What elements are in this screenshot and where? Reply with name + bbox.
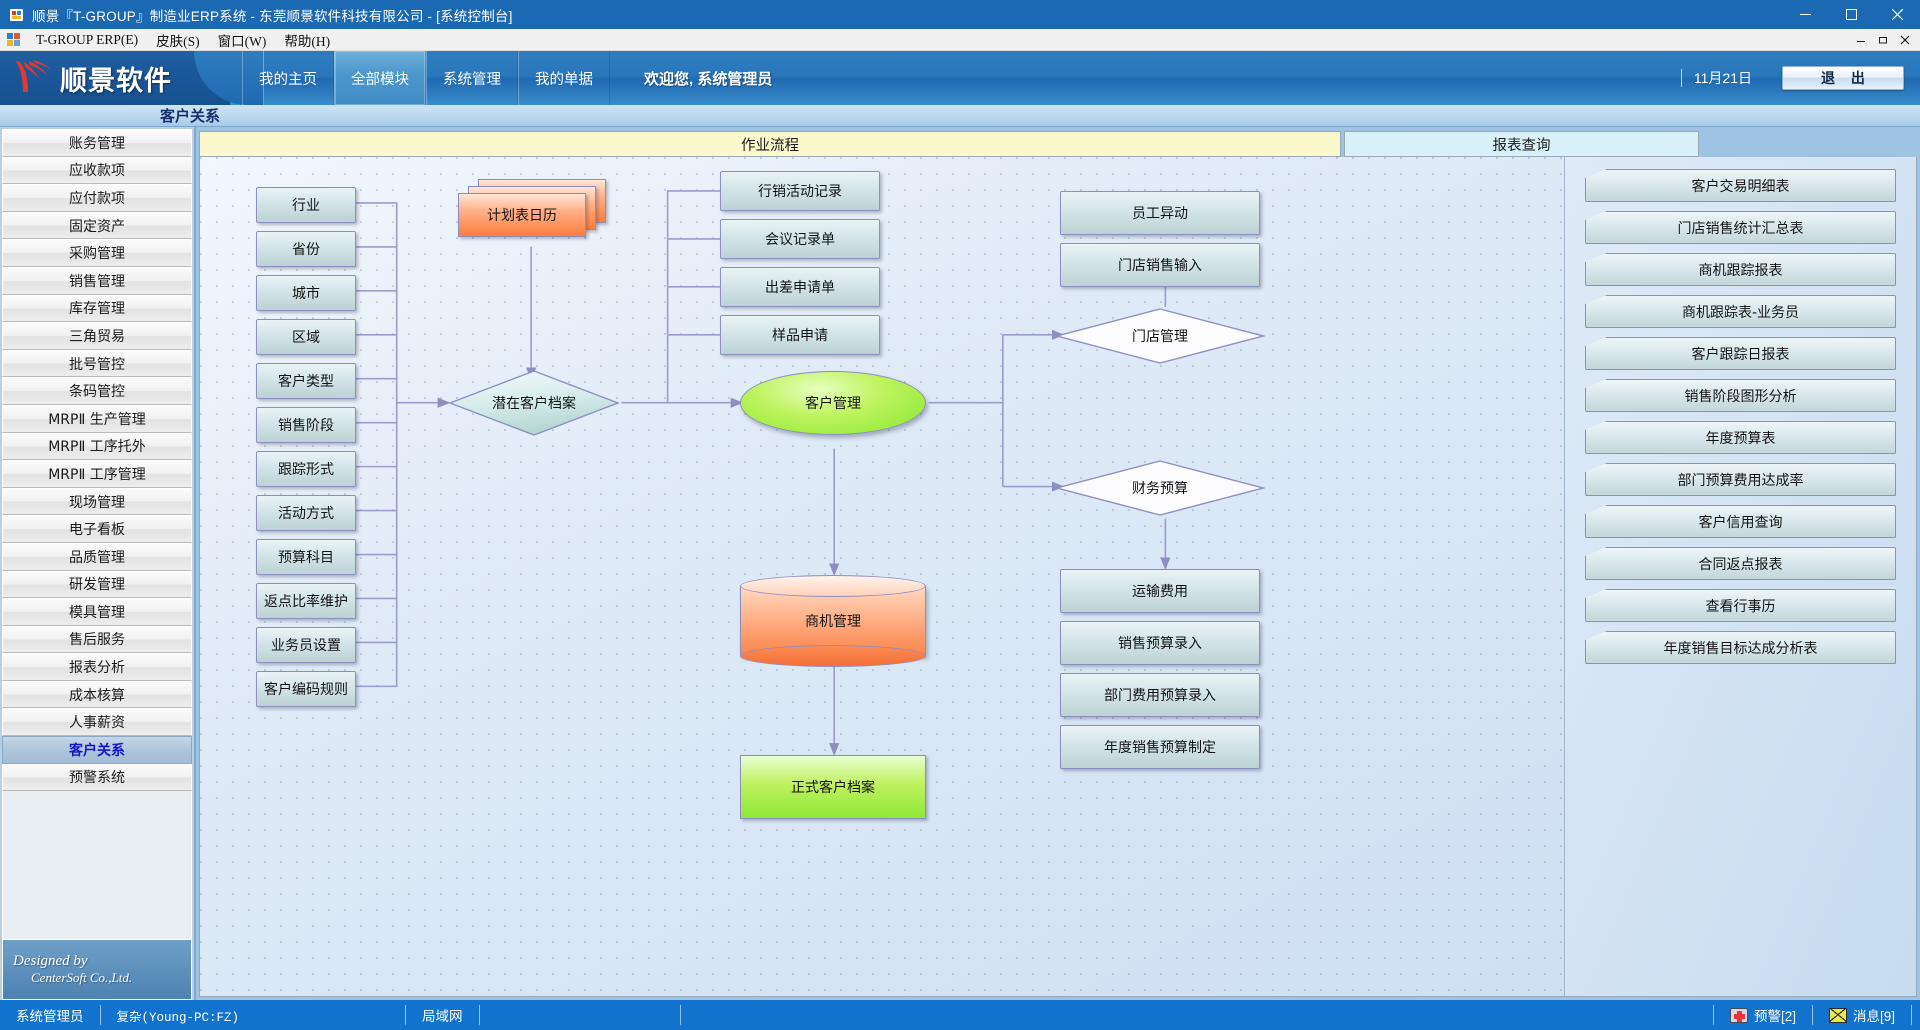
window-close-button[interactable] — [1874, 0, 1920, 29]
module-title-bar: 客户关系 — [0, 105, 1920, 127]
workflow-canvas: 行业 省份 城市 区域 客户类型 销售阶段 跟踪形式 活动方式 预算科目 返点比… — [199, 157, 1917, 997]
sidebar-item-report-analysis[interactable]: 报表分析 — [2, 653, 192, 681]
flow-node-tracking-type[interactable]: 跟踪形式 — [256, 451, 356, 487]
report-button-customer-transaction-detail[interactable]: 客户交易明细表 — [1585, 169, 1896, 202]
flow-node-customer-management[interactable]: 客户管理 — [740, 371, 926, 435]
page-title: 客户关系 — [160, 105, 220, 126]
mdi-restore-button[interactable] — [1872, 30, 1894, 50]
flow-node-sales-budget-entry[interactable]: 销售预算录入 — [1060, 621, 1260, 665]
sidebar-item-mrp2-outsourcing[interactable]: MRPⅡ 工序托外 — [2, 433, 192, 461]
credit-company: CenterSoft Co.,Ltd. — [31, 970, 191, 986]
logout-button[interactable]: 退 出 — [1782, 66, 1904, 90]
header-divider — [1681, 69, 1682, 87]
sidebar-item-rnd[interactable]: 研发管理 — [2, 571, 192, 599]
flow-node-dept-expense-budget[interactable]: 部门费用预算录入 — [1060, 673, 1260, 717]
status-bar: 系统管理员 复杂(Young-PC:FZ) 局域网 预警[2] 消息[9] — [0, 1000, 1920, 1030]
flow-node-finance-budget-label: 财务预算 — [1055, 459, 1265, 517]
flow-node-customer-coding[interactable]: 客户编码规则 — [256, 671, 356, 707]
sidebar-item-mrp2-process[interactable]: MRPⅡ 工序管理 — [2, 460, 192, 488]
application-body: 账务管理 应收款项 应付款项 固定资产 采购管理 销售管理 库存管理 三角贸易 … — [0, 127, 1920, 1000]
sidebar-item-purchasing[interactable]: 采购管理 — [2, 239, 192, 267]
mdi-close-button[interactable] — [1894, 30, 1916, 50]
application-header: 顺景软件 我的主页 全部模块 系统管理 我的单据 欢迎您, 系统管理员 11月2… — [0, 51, 1920, 105]
sidebar-item-kanban[interactable]: 电子看板 — [2, 515, 192, 543]
sidebar-item-batch-control[interactable]: 批号管控 — [2, 350, 192, 378]
report-button-customer-daily-tracking[interactable]: 客户跟踪日报表 — [1585, 337, 1896, 370]
alert-icon — [1730, 1008, 1748, 1023]
report-button-view-calendar[interactable]: 查看行事历 — [1585, 589, 1896, 622]
flow-node-marketing-activity[interactable]: 行销活动记录 — [720, 171, 880, 211]
flow-node-customer-type[interactable]: 客户类型 — [256, 363, 356, 399]
flow-node-store-sales-input[interactable]: 门店销售输入 — [1060, 243, 1260, 287]
status-network: 局域网 — [406, 1000, 479, 1030]
window-maximize-button[interactable] — [1828, 0, 1874, 29]
tab-workflow[interactable]: 作业流程 — [199, 131, 1341, 157]
status-server: 复杂(Young-PC:FZ) — [101, 1000, 256, 1030]
header-date: 11月21日 — [1694, 68, 1752, 88]
sidebar-credit: Designed by CenterSoft Co.,Ltd. — [2, 940, 192, 1000]
report-button-dept-budget-achievement[interactable]: 部门预算费用达成率 — [1585, 463, 1896, 496]
status-user: 系统管理员 — [0, 1000, 100, 1030]
workflow-area: 作业流程 报表查询 — [196, 127, 1920, 1000]
status-alert-button[interactable]: 预警[2] — [1714, 1000, 1812, 1030]
flow-node-transport-fee[interactable]: 运输费用 — [1060, 569, 1260, 613]
nav-tab-my-documents[interactable]: 我的单据 — [518, 51, 610, 105]
nav-tab-home[interactable]: 我的主页 — [242, 51, 334, 105]
flow-node-region[interactable]: 区域 — [256, 319, 356, 355]
brand-name: 顺景软件 — [60, 59, 172, 98]
module-sidebar: 账务管理 应收款项 应付款项 固定资产 采购管理 销售管理 库存管理 三角贸易 … — [0, 127, 196, 1000]
flow-node-rebate-rate[interactable]: 返点比率维护 — [256, 583, 356, 619]
flow-node-staff-change[interactable]: 员工异动 — [1060, 191, 1260, 235]
flow-node-plan-calendar[interactable]: 计划表日历 — [458, 193, 586, 237]
flow-node-finance-budget[interactable]: 财务预算 — [1055, 459, 1265, 517]
sidebar-item-crm[interactable]: 客户关系 — [2, 736, 192, 764]
report-button-opportunity-by-salesperson[interactable]: 商机跟踪表-业务员 — [1585, 295, 1896, 328]
flow-node-store-management[interactable]: 门店管理 — [1055, 307, 1265, 365]
flow-node-city[interactable]: 城市 — [256, 275, 356, 311]
main-nav-tabs: 我的主页 全部模块 系统管理 我的单据 — [242, 51, 610, 105]
flow-node-potential-customer-label: 潜在客户档案 — [448, 369, 620, 437]
erp-application-window: 顺景『T-GROUP』制造业ERP系统 - 东莞顺景软件科技有限公司 - [系统… — [0, 0, 1920, 1030]
menu-item-skin[interactable]: 皮肤(S) — [147, 28, 209, 52]
status-alert-label: 预警[2] — [1754, 1005, 1796, 1025]
flow-node-province[interactable]: 省份 — [256, 231, 356, 267]
credit-designed-by: Designed by — [13, 953, 191, 970]
sidebar-item-mrp2-production[interactable]: MRPⅡ 生产管理 — [2, 405, 192, 433]
flow-node-opportunity-management-label: 商机管理 — [740, 575, 926, 667]
sidebar-item-mold[interactable]: 模具管理 — [2, 598, 192, 626]
sidebar-item-hr-payroll[interactable]: 人事薪资 — [2, 708, 192, 736]
brand-area: 顺景软件 — [0, 51, 230, 105]
sidebar-item-sales[interactable]: 销售管理 — [2, 267, 192, 295]
flow-node-industry[interactable]: 行业 — [256, 187, 356, 223]
flow-node-annual-sales-budget[interactable]: 年度销售预算制定 — [1060, 725, 1260, 769]
sidebar-filler — [2, 791, 192, 940]
sidebar-item-triangular-trade[interactable]: 三角贸易 — [2, 322, 192, 350]
application-menubar: T-GROUP ERP(E) 皮肤(S) 窗口(W) 帮助(H) — [0, 29, 1920, 51]
sidebar-item-accounting[interactable]: 账务管理 — [2, 129, 192, 157]
sidebar-item-after-sales[interactable]: 售后服务 — [2, 626, 192, 654]
flow-node-sample-request[interactable]: 样品申请 — [720, 315, 880, 355]
sidebar-item-shopfloor[interactable]: 现场管理 — [2, 488, 192, 516]
flow-node-formal-customer[interactable]: 正式客户档案 — [740, 755, 926, 819]
welcome-message: 欢迎您, 系统管理员 — [644, 51, 772, 105]
sidebar-item-receivables[interactable]: 应收款项 — [2, 157, 192, 185]
status-message-label: 消息[9] — [1853, 1005, 1895, 1025]
flow-node-potential-customer[interactable]: 潜在客户档案 — [448, 369, 620, 437]
tab-report-query[interactable]: 报表查询 — [1344, 131, 1699, 157]
menu-app-icon — [7, 33, 21, 47]
sidebar-item-barcode-control[interactable]: 条码管控 — [2, 377, 192, 405]
sidebar-item-cost-accounting[interactable]: 成本核算 — [2, 681, 192, 709]
report-button-customer-credit-query[interactable]: 客户信用查询 — [1585, 505, 1896, 538]
report-button-sales-stage-chart[interactable]: 销售阶段图形分析 — [1585, 379, 1896, 412]
sidebar-item-alert-system[interactable]: 预警系统 — [2, 764, 192, 792]
window-titlebar: 顺景『T-GROUP』制造业ERP系统 - 东莞顺景软件科技有限公司 - [系统… — [0, 0, 1920, 29]
report-query-panel: 客户交易明细表 门店销售统计汇总表 商机跟踪报表 商机跟踪表-业务员 客户跟踪日… — [1564, 157, 1916, 996]
report-button-opportunity-tracking[interactable]: 商机跟踪报表 — [1585, 253, 1896, 286]
nav-tab-all-modules[interactable]: 全部模块 — [334, 51, 426, 105]
mail-icon — [1829, 1008, 1847, 1023]
company-logo-icon — [10, 58, 54, 98]
sidebar-item-inventory[interactable]: 库存管理 — [2, 295, 192, 323]
flow-node-budget-subject[interactable]: 预算科目 — [256, 539, 356, 575]
workflow-tabs: 作业流程 报表查询 — [199, 131, 1917, 157]
flow-node-sales-stage[interactable]: 销售阶段 — [256, 407, 356, 443]
flow-node-meeting-record[interactable]: 会议记录单 — [720, 219, 880, 259]
flow-node-travel-request[interactable]: 出差申请单 — [720, 267, 880, 307]
menu-item-help[interactable]: 帮助(H) — [275, 28, 339, 52]
nav-tab-system-management[interactable]: 系统管理 — [426, 51, 518, 105]
flow-node-store-management-label: 门店管理 — [1055, 307, 1265, 365]
window-title: 顺景『T-GROUP』制造业ERP系统 - 东莞顺景软件科技有限公司 - [系统… — [32, 5, 513, 25]
flow-node-activity-type[interactable]: 活动方式 — [256, 495, 356, 531]
flow-node-opportunity-management[interactable]: 商机管理 — [740, 575, 926, 667]
sidebar-item-payables[interactable]: 应付款项 — [2, 184, 192, 212]
status-message-button[interactable]: 消息[9] — [1813, 1000, 1911, 1030]
sidebar-item-fixed-assets[interactable]: 固定资产 — [2, 212, 192, 240]
sidebar-list: 账务管理 应收款项 应付款项 固定资产 采购管理 销售管理 库存管理 三角贸易 … — [2, 129, 192, 791]
menu-item-window[interactable]: 窗口(W) — [209, 28, 276, 52]
report-button-store-sales-summary[interactable]: 门店销售统计汇总表 — [1585, 211, 1896, 244]
window-minimize-button[interactable] — [1782, 0, 1828, 29]
report-button-contract-rebate[interactable]: 合同返点报表 — [1585, 547, 1896, 580]
sidebar-item-quality[interactable]: 品质管理 — [2, 543, 192, 571]
mdi-minimize-button[interactable] — [1850, 30, 1872, 50]
report-button-annual-sales-target[interactable]: 年度销售目标达成分析表 — [1585, 631, 1896, 664]
menu-item-erp[interactable]: T-GROUP ERP(E) — [27, 30, 147, 50]
app-icon — [9, 7, 25, 23]
report-button-annual-budget[interactable]: 年度预算表 — [1585, 421, 1896, 454]
flow-node-salesperson[interactable]: 业务员设置 — [256, 627, 356, 663]
